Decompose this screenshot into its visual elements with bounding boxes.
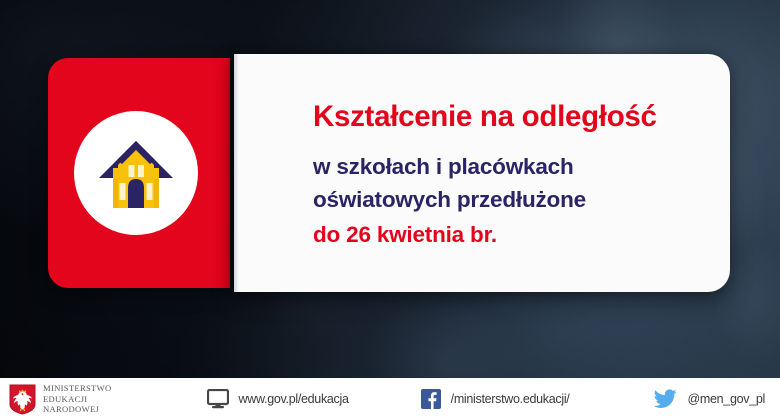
monitor-icon bbox=[207, 389, 229, 409]
message-deadline: do 26 kwietnia br. bbox=[313, 222, 497, 248]
footer-bar: Ministerstwo Edukacji Narodowej www.gov.… bbox=[0, 378, 780, 420]
ministry-name-line-3: Narodowej bbox=[43, 404, 112, 414]
headline: Kształcenie na odległość bbox=[313, 100, 657, 134]
ministry-name: Ministerstwo Edukacji Narodowej bbox=[43, 383, 112, 414]
twitter-link[interactable]: @men_gov_pl bbox=[653, 389, 765, 409]
school-house-icon bbox=[97, 135, 175, 211]
polish-coat-of-arms bbox=[9, 384, 36, 415]
message-line-1: w szkołach i placówkach bbox=[313, 154, 574, 180]
website-link[interactable]: www.gov.pl/edukacja bbox=[207, 389, 349, 409]
card-seam bbox=[234, 54, 239, 292]
facebook-link[interactable]: /ministerstwo.edukacji/ bbox=[421, 389, 570, 409]
ministry-name-line-2: Edukacji bbox=[43, 394, 112, 404]
message-line-2: oświatowych przedłużone bbox=[313, 187, 586, 213]
ministry-branding: Ministerstwo Edukacji Narodowej bbox=[9, 383, 112, 414]
icon-circle bbox=[74, 111, 198, 235]
icon-panel bbox=[48, 58, 230, 288]
twitter-icon bbox=[653, 389, 677, 409]
facebook-icon bbox=[421, 389, 441, 409]
twitter-handle: @men_gov_pl bbox=[687, 392, 765, 406]
website-url: www.gov.pl/edukacja bbox=[239, 392, 349, 406]
facebook-handle: /ministerstwo.edukacji/ bbox=[451, 392, 570, 406]
message-card: Kształcenie na odległość w szkołach i pl… bbox=[234, 54, 730, 292]
poster-root: Kształcenie na odległość w szkołach i pl… bbox=[0, 0, 780, 420]
ministry-name-line-1: Ministerstwo bbox=[43, 383, 112, 393]
